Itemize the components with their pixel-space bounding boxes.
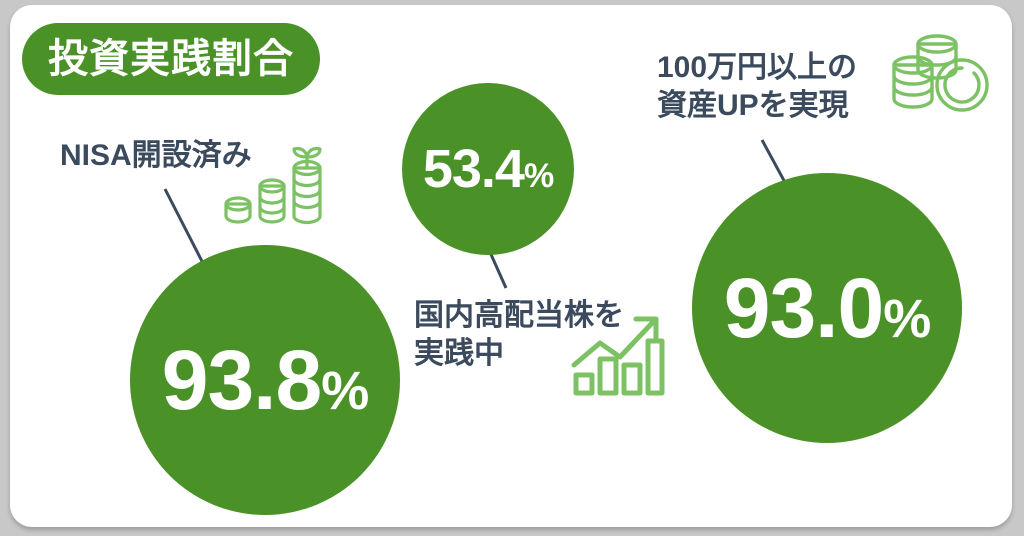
stat-circle-nisa: 93.8%	[130, 245, 400, 515]
stat-number-dividend: 53.4	[423, 142, 524, 196]
coin-stacks-icon	[888, 27, 994, 124]
stat-value-dividend: 53.4%	[423, 142, 553, 196]
stat-circle-dividend: 53.4%	[402, 83, 574, 255]
title-badge: 投資実践割合	[22, 23, 320, 95]
title-badge-label: 投資実践割合	[48, 39, 294, 79]
stat-value-asset: 93.0%	[724, 266, 931, 350]
infographic-card: 投資実践割合 NISA開設済み	[10, 5, 1012, 527]
growth-chart-icon	[570, 307, 666, 408]
stat-number-asset: 93.0	[724, 266, 884, 350]
sprout-coins-icon	[218, 139, 328, 234]
stat-value-nisa: 93.8%	[162, 338, 369, 422]
stat-number-nisa: 93.8	[162, 338, 322, 422]
stat-percent-nisa: %	[321, 364, 368, 418]
stat-label-asset: 100万円以上の 資産UPを実現	[657, 49, 857, 126]
stat-percent-asset: %	[883, 292, 930, 346]
stat-percent-dividend: %	[524, 159, 553, 193]
stat-circle-asset: 93.0%	[692, 173, 962, 443]
